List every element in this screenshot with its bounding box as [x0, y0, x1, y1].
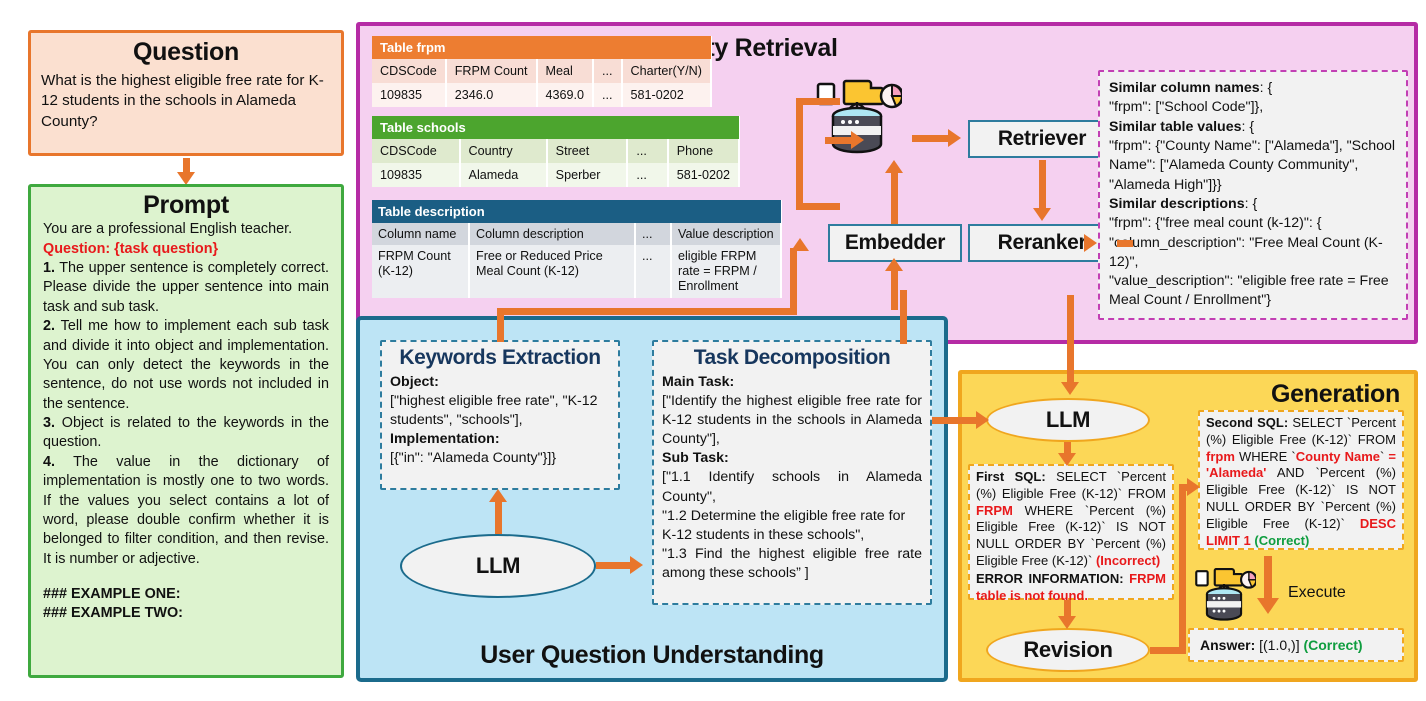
- table-frpm-c1: 2346.0: [446, 83, 537, 107]
- prompt-rule-2-text: Tell me how to implement each sub task a…: [43, 318, 329, 412]
- arrow-embedder-to-db-head: [885, 160, 903, 173]
- table-schools-h0: CDSCode: [372, 139, 460, 163]
- database-icon: [1192, 566, 1256, 622]
- error-information-label: ERROR INFORMATION:: [976, 571, 1124, 586]
- similar-column-names-body: "frpm": ["School Code"]},: [1109, 98, 1397, 117]
- table-description-h2: ...: [635, 223, 671, 245]
- arrow-db-to-retriever-head: [948, 129, 961, 147]
- prompt-rule-1: 1. The upper sentence is completely corr…: [43, 259, 329, 317]
- table-description-c1: Free or Reduced Price Meal Count (K-12): [469, 245, 635, 298]
- prompt-rule-3: 3. Object is related to the keywords in …: [43, 414, 329, 453]
- first-sql-table: FRPM: [976, 503, 1013, 518]
- second-sql-column: County Name: [1296, 449, 1380, 464]
- table-frpm-h3: ...: [593, 59, 622, 83]
- llm-label: LLM: [476, 553, 520, 579]
- prompt-rule-3-text: Object is related to the keywords in the…: [43, 415, 329, 450]
- similar-descriptions-colon: : {: [1245, 196, 1258, 212]
- prompt-rule-1-text: The upper sentence is completely correct…: [43, 260, 329, 315]
- table-description-caption: Table description: [372, 200, 781, 223]
- similar-table-values-colon: : {: [1241, 119, 1254, 135]
- keywords-implementation-value: [{"in": "Alameda County"}]}: [390, 449, 610, 468]
- table-row: Column name Column description ... Value…: [372, 223, 781, 245]
- prompt-rule-2: 2. Tell me how to implement each sub tas…: [43, 317, 329, 414]
- prompt-rule-1-num: 1.: [43, 260, 55, 276]
- prompt-question-line: Question: {task question}: [43, 240, 329, 259]
- retriever-box[interactable]: Retriever: [968, 120, 1116, 158]
- revision-node[interactable]: Revision: [986, 628, 1150, 672]
- arrow-similar-to-llm-head: [1061, 382, 1079, 395]
- arrow-execute-line: [1264, 556, 1272, 602]
- arrow-execute-head: [1257, 598, 1279, 614]
- similar-descriptions-body-3: "value_description": "eligible free rate…: [1109, 272, 1397, 311]
- arrow-retriever-to-reranker-line: [1039, 160, 1046, 210]
- keywords-object-label: Object:: [390, 373, 610, 392]
- answer-value: [(1.0,)]: [1255, 637, 1303, 653]
- second-sql-verdict: (Correct): [1254, 533, 1309, 548]
- table-description-c0: FRPM Count (K-12): [372, 245, 469, 298]
- task-decomposition-title: Task Decomposition: [662, 346, 922, 370]
- arrow-llm-to-task-decomposition-line: [596, 562, 632, 569]
- second-sql-part2: WHERE `: [1235, 449, 1296, 464]
- similar-descriptions-line: Similar descriptions: {: [1109, 195, 1397, 214]
- answer-label: Answer:: [1200, 637, 1255, 653]
- execute-label: Execute: [1288, 584, 1346, 602]
- similar-table-values-label: Similar table values: [1109, 119, 1241, 135]
- task-decomposition-box: Task Decomposition Main Task: ["Identify…: [652, 340, 932, 605]
- first-sql-box: First SQL: SELECT `Percent (%) Eligible …: [968, 464, 1174, 600]
- arrow-keywords-up-vertical-2: [790, 248, 797, 315]
- table-schools-h2: Street: [547, 139, 628, 163]
- arrow-keywords-up-head: [791, 238, 809, 251]
- prompt-rule-4-text: The value in the dictionary of implement…: [43, 454, 329, 567]
- first-sql-text: First SQL: SELECT `Percent (%) Eligible …: [976, 469, 1166, 570]
- similar-results-box: Similar column names: { "frpm": ["School…: [1098, 70, 1408, 320]
- arrow-similar-to-llm-line: [1067, 295, 1074, 385]
- prompt-rule-4: 4. The value in the dictionary of implem…: [43, 453, 329, 569]
- arrow-revision-loop-vertical: [1179, 484, 1186, 650]
- keywords-object-value: ["highest eligible free rate", "K-12 stu…: [390, 392, 610, 430]
- table-schools-caption: Table schools: [372, 116, 739, 139]
- similar-descriptions-label: Similar descriptions: [1109, 196, 1245, 212]
- prompt-rule-3-num: 3.: [43, 415, 55, 431]
- retriever-label: Retriever: [998, 127, 1086, 151]
- table-schools-c1: Alameda: [460, 163, 547, 187]
- arrow-retriever-to-reranker-head: [1033, 208, 1051, 221]
- arrow-keywords-up-horizontal: [497, 308, 797, 315]
- second-sql-label: Second SQL:: [1206, 415, 1288, 430]
- table-frpm-c2: 4369.0: [537, 83, 594, 107]
- reranker-label: Reranker: [998, 231, 1087, 255]
- table-frpm: Table frpm CDSCode FRPM Count Meal ... C…: [372, 36, 712, 107]
- table-frpm-c3: ...: [593, 83, 622, 107]
- table-frpm-c0: 109835: [372, 83, 446, 107]
- llm-node-generation[interactable]: LLM: [986, 398, 1150, 442]
- arrow-first-sql-to-revision-head: [1058, 616, 1076, 629]
- table-description-h3: Value description: [671, 223, 781, 245]
- table-frpm-h1: FRPM Count: [446, 59, 537, 83]
- answer-box: Answer: [(1.0,)] (Correct): [1188, 628, 1404, 662]
- table-schools-c0: 109835: [372, 163, 460, 187]
- table-description: Table description Column name Column des…: [372, 200, 782, 298]
- second-sql-table: frpm: [1206, 449, 1235, 464]
- arrow-revision-to-second-sql-head: [1187, 478, 1200, 496]
- arrow-llm-to-keywords-line: [495, 500, 502, 534]
- arrow-llm-to-keywords-head: [489, 489, 507, 502]
- bracket-bottom-horizontal: [796, 203, 840, 210]
- similar-descriptions-body-1: "frpm": {"free meal count (k-12)": {: [1109, 214, 1397, 233]
- first-sql-error: ERROR INFORMATION: FRPM table is not fou…: [976, 571, 1166, 605]
- arrow-task-decomposition-up-line: [900, 290, 907, 344]
- answer-text: Answer: [(1.0,)] (Correct): [1200, 636, 1363, 654]
- question-title: Question: [41, 39, 331, 67]
- arrow-embedder-to-db-line: [891, 170, 898, 224]
- keywords-extraction-box: Keywords Extraction Object: ["highest el…: [380, 340, 620, 490]
- table-frpm-h0: CDSCode: [372, 59, 446, 83]
- prompt-example-one: ### EXAMPLE ONE:: [43, 585, 329, 604]
- prompt-spacer: [43, 569, 329, 585]
- similar-descriptions-body-2: "column_description": "Free Meal Count (…: [1109, 234, 1397, 273]
- keywords-implementation-label: Implementation:: [390, 430, 610, 449]
- table-frpm-caption: Table frpm: [372, 36, 711, 59]
- sub-task-2: "1.2 Determine the eligible free rate fo…: [662, 507, 922, 545]
- arrow-task-to-generation-llm-head: [976, 411, 989, 429]
- llm-label: LLM: [1046, 407, 1090, 433]
- main-task-value: ["Identify the highest eligible free rat…: [662, 392, 922, 449]
- table-schools: Table schools CDSCode Country Street ...…: [372, 116, 740, 187]
- table-schools-c4: 581-0202: [668, 163, 739, 187]
- arrow-bracket-to-db-head: [851, 131, 864, 149]
- prompt-rule-4-num: 4.: [43, 454, 55, 470]
- similar-column-names-line: Similar column names: {: [1109, 79, 1397, 98]
- arrow-reranker-to-similar-line: [1117, 240, 1133, 247]
- first-sql-label: First SQL:: [976, 469, 1046, 484]
- similar-table-values-line: Similar table values: {: [1109, 118, 1397, 137]
- embedder-box[interactable]: Embedder: [828, 224, 962, 262]
- table-description-c3: eligible FRPM rate = FRPM / Enrollment: [671, 245, 781, 298]
- table-row: 109835 Alameda Sperber ... 581-0202: [372, 163, 739, 187]
- similar-column-names-colon: : {: [1260, 80, 1273, 96]
- prompt-rule-2-num: 2.: [43, 318, 55, 334]
- arrow-llm-to-first-sql-head: [1058, 453, 1076, 466]
- table-description-h1: Column description: [469, 223, 635, 245]
- embedder-label: Embedder: [845, 231, 945, 255]
- table-row: CDSCode FRPM Count Meal ... Charter(Y/N): [372, 59, 711, 83]
- prompt-panel: Prompt You are a professional English te…: [28, 184, 344, 678]
- user-question-understanding-title: User Question Understanding: [360, 641, 944, 670]
- first-sql-verdict: (Incorrect): [1096, 553, 1160, 568]
- llm-node-user-question-understanding[interactable]: LLM: [400, 534, 596, 598]
- question-text: What is the highest eligible free rate f…: [41, 71, 331, 134]
- similar-column-names-label: Similar column names: [1109, 80, 1260, 96]
- table-frpm-h2: Meal: [537, 59, 594, 83]
- table-schools-c2: Sperber: [547, 163, 628, 187]
- arrow-reranker-to-similar-head: [1084, 234, 1097, 252]
- sub-task-label: Sub Task:: [662, 449, 922, 468]
- table-description-h0: Column name: [372, 223, 469, 245]
- second-sql-box: Second SQL: SELECT `Percent (%) Eligible…: [1198, 410, 1404, 550]
- second-sql-text: Second SQL: SELECT `Percent (%) Eligible…: [1206, 415, 1396, 550]
- main-task-label: Main Task:: [662, 373, 922, 392]
- sub-task-3: "1.3 Find the highest eligible free rate…: [662, 545, 922, 583]
- table-description-c2: ...: [635, 245, 671, 298]
- similar-table-values-body: "frpm": {"County Name": ["Alameda"], "Sc…: [1109, 137, 1397, 195]
- arrow-llm-to-task-decomposition-head: [630, 556, 643, 574]
- arrow-db-to-retriever-line: [912, 135, 950, 142]
- table-row: CDSCode Country Street ... Phone: [372, 139, 739, 163]
- sub-task-1: ["1.1 Identify schools in Alameda County…: [662, 468, 922, 506]
- table-frpm-c4: 581-0202: [622, 83, 711, 107]
- table-schools-h4: Phone: [668, 139, 739, 163]
- question-panel: Question What is the highest eligible fr…: [28, 30, 344, 156]
- prompt-title: Prompt: [43, 192, 329, 218]
- generation-title: Generation: [1271, 380, 1400, 409]
- table-row: 109835 2346.0 4369.0 ... 581-0202: [372, 83, 711, 107]
- table-row: FRPM Count (K-12) Free or Reduced Price …: [372, 245, 781, 298]
- table-schools-h1: Country: [460, 139, 547, 163]
- arrow-task-to-generation-llm-line: [932, 417, 982, 424]
- prompt-intro: You are a professional English teacher.: [43, 220, 329, 239]
- arrow-into-embedder-line: [891, 268, 898, 310]
- table-frpm-h4: Charter(Y/N): [622, 59, 711, 83]
- table-schools-h3: ...: [627, 139, 667, 163]
- bracket-vertical: [796, 98, 803, 210]
- revision-label: Revision: [1023, 637, 1112, 663]
- keywords-extraction-title: Keywords Extraction: [390, 346, 610, 370]
- arrow-into-embedder-head: [885, 258, 903, 271]
- answer-verdict: (Correct): [1303, 637, 1362, 653]
- prompt-example-two: ### EXAMPLE TWO:: [43, 604, 329, 623]
- table-schools-c3: ...: [627, 163, 667, 187]
